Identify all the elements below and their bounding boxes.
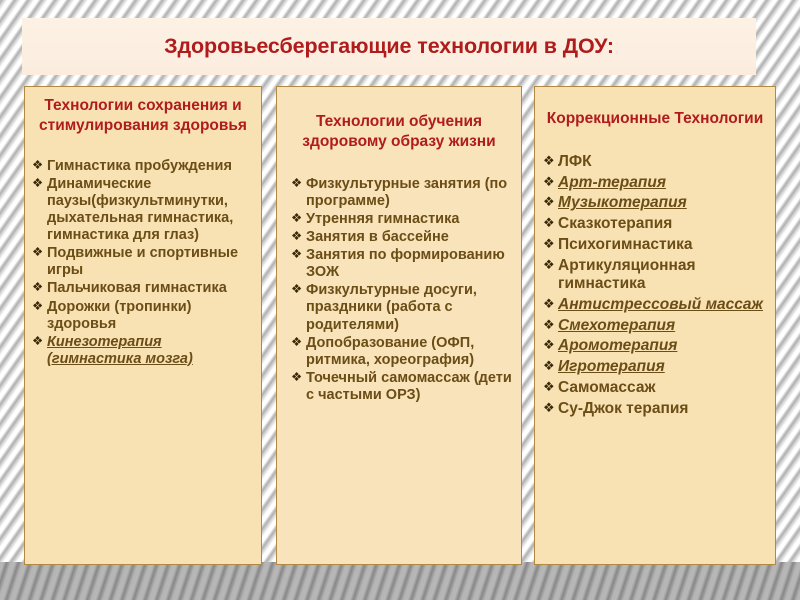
diamond-cluster-bullet-icon: ❖ xyxy=(291,370,306,385)
list-item: ❖Допобразование (ОФП, ритмика, хореограф… xyxy=(291,335,517,369)
diamond-cluster-bullet-icon: ❖ xyxy=(291,229,306,244)
list-item: ❖Самомассаж xyxy=(543,379,771,397)
column-1-header: Технологии сохранения и стимулирования з… xyxy=(25,96,261,136)
diamond-cluster-bullet-icon: ❖ xyxy=(291,335,306,350)
diamond-cluster-bullet-icon: ❖ xyxy=(543,296,558,311)
column-health-preservation: Технологии сохранения и стимулирования з… xyxy=(24,86,262,565)
column-1-list: ❖Гимнастика пробуждения❖Динамические пау… xyxy=(25,158,261,368)
list-item: ❖Пальчиковая гимнастика xyxy=(32,280,257,297)
list-item: ❖Физкультурные занятия (по программе) xyxy=(291,176,517,210)
list-item: ❖Психогимнастика xyxy=(543,236,771,254)
diamond-cluster-bullet-icon: ❖ xyxy=(543,153,558,168)
list-item-label: Артикуляционная гимнастика xyxy=(558,257,771,294)
list-item-label: Подвижные и спортивные игры xyxy=(47,245,257,279)
list-item: ❖Гимнастика пробуждения xyxy=(32,158,257,175)
list-item-label: Пальчиковая гимнастика xyxy=(47,280,257,297)
diamond-cluster-bullet-icon: ❖ xyxy=(32,334,47,349)
list-item: ❖Смехотерапия xyxy=(543,317,771,335)
column-2-header: Технологии обучения здоровому образу жиз… xyxy=(277,112,521,152)
list-item: ❖Антистрессовый массаж xyxy=(543,296,771,314)
list-item-label: Динамические паузы(физкультминутки, дыха… xyxy=(47,176,257,244)
list-item: ❖Физкультурные досуги, праздники (работа… xyxy=(291,282,517,333)
diamond-cluster-bullet-icon: ❖ xyxy=(291,247,306,262)
list-item-label: Арт-терапия xyxy=(558,174,771,192)
list-item-label: Су-Джок терапия xyxy=(558,400,771,418)
list-item-label: Занятия в бассейне xyxy=(306,229,517,246)
list-item-label: Антистрессовый массаж xyxy=(558,296,771,314)
diamond-cluster-bullet-icon: ❖ xyxy=(543,174,558,189)
list-item: ❖Занятия в бассейне xyxy=(291,229,517,246)
list-item: ❖Динамические паузы(физкультминутки, дых… xyxy=(32,176,257,244)
list-item-label: Занятия по формированию ЗОЖ xyxy=(306,247,517,281)
list-item-label: Физкультурные занятия (по программе) xyxy=(306,176,517,210)
list-item-label: Аромотерапия xyxy=(558,337,771,355)
list-item: ❖ЛФК xyxy=(543,153,771,171)
list-item: ❖Занятия по формированию ЗОЖ xyxy=(291,247,517,281)
diamond-cluster-bullet-icon: ❖ xyxy=(543,317,558,332)
list-item-label: Игротерапия xyxy=(558,358,771,376)
diamond-cluster-bullet-icon: ❖ xyxy=(543,257,558,272)
column-3-list: ❖ЛФК❖Арт-терапия❖Музыкотерапия❖Сказкотер… xyxy=(535,153,775,418)
list-item-label: Самомассаж xyxy=(558,379,771,397)
list-item: ❖Кинезотерапия (гимнастика мозга) xyxy=(32,334,257,368)
diamond-cluster-bullet-icon: ❖ xyxy=(543,236,558,251)
list-item: ❖Музыкотерапия xyxy=(543,194,771,212)
list-item: ❖Дорожки (тропинки) здоровья xyxy=(32,299,257,333)
list-item: ❖Подвижные и спортивные игры xyxy=(32,245,257,279)
diamond-cluster-bullet-icon: ❖ xyxy=(291,176,306,191)
list-item-label: ЛФК xyxy=(558,153,771,171)
diamond-cluster-bullet-icon: ❖ xyxy=(291,211,306,226)
list-item-label: Смехотерапия xyxy=(558,317,771,335)
list-item-label: Допобразование (ОФП, ритмика, хореографи… xyxy=(306,335,517,369)
diamond-cluster-bullet-icon: ❖ xyxy=(543,337,558,352)
diamond-cluster-bullet-icon: ❖ xyxy=(32,280,47,295)
slide-title-panel: Здоровьесберегающие технологии в ДОУ: xyxy=(22,18,756,75)
list-item: ❖Точечный самомассаж (дети с частыми ОРЗ… xyxy=(291,370,517,404)
column-correctional-technologies: Коррекционные Технологии ❖ЛФК❖Арт-терапи… xyxy=(534,86,776,565)
diamond-cluster-bullet-icon: ❖ xyxy=(32,158,47,173)
list-item: ❖Аромотерапия xyxy=(543,337,771,355)
list-item: ❖Утренняя гимнастика xyxy=(291,211,517,228)
list-item: ❖Артикуляционная гимнастика xyxy=(543,257,771,294)
diamond-cluster-bullet-icon: ❖ xyxy=(32,299,47,314)
list-item: ❖Сказкотерапия xyxy=(543,215,771,233)
column-2-list: ❖Физкультурные занятия (по программе)❖Ут… xyxy=(277,176,521,404)
list-item: ❖Арт-терапия xyxy=(543,174,771,192)
diamond-cluster-bullet-icon: ❖ xyxy=(32,176,47,191)
diamond-cluster-bullet-icon: ❖ xyxy=(543,358,558,373)
column-3-header: Коррекционные Технологии xyxy=(535,109,775,129)
diamond-cluster-bullet-icon: ❖ xyxy=(32,245,47,260)
page-title: Здоровьесберегающие технологии в ДОУ: xyxy=(164,34,614,59)
slide-canvas: Здоровьесберегающие технологии в ДОУ: Те… xyxy=(0,0,800,600)
list-item: ❖Су-Джок терапия xyxy=(543,400,771,418)
diamond-cluster-bullet-icon: ❖ xyxy=(543,194,558,209)
list-item-label: Сказкотерапия xyxy=(558,215,771,233)
diamond-cluster-bullet-icon: ❖ xyxy=(543,215,558,230)
list-item-label: Дорожки (тропинки) здоровья xyxy=(47,299,257,333)
list-item-label: Гимнастика пробуждения xyxy=(47,158,257,175)
list-item-label: Кинезотерапия (гимнастика мозга) xyxy=(47,334,257,368)
list-item-label: Точечный самомассаж (дети с частыми ОРЗ) xyxy=(306,370,517,404)
column-healthy-lifestyle-education: Технологии обучения здоровому образу жиз… xyxy=(276,86,522,565)
list-item-label: Психогимнастика xyxy=(558,236,771,254)
list-item-label: Физкультурные досуги, праздники (работа … xyxy=(306,282,517,333)
background-stripe-band xyxy=(0,562,800,600)
diamond-cluster-bullet-icon: ❖ xyxy=(543,379,558,394)
diamond-cluster-bullet-icon: ❖ xyxy=(543,400,558,415)
list-item: ❖Игротерапия xyxy=(543,358,771,376)
list-item-label: Утренняя гимнастика xyxy=(306,211,517,228)
diamond-cluster-bullet-icon: ❖ xyxy=(291,282,306,297)
list-item-label: Музыкотерапия xyxy=(558,194,771,212)
